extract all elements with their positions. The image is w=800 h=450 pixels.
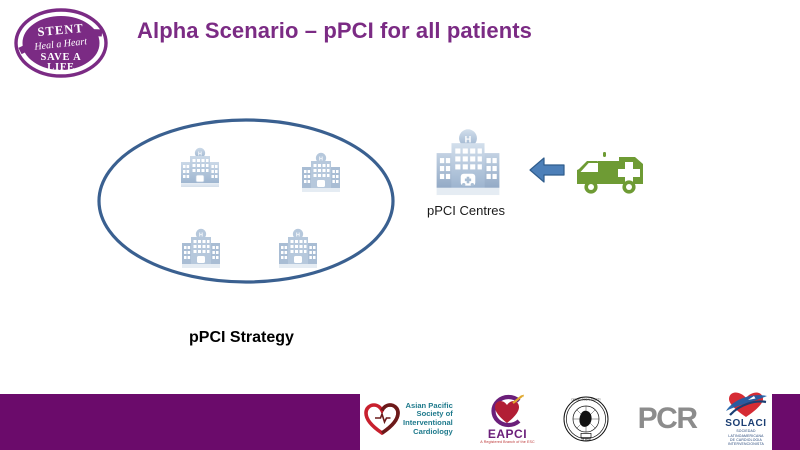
ppci-strategy-ellipse: [96, 117, 396, 285]
ppci-strategy-label: pPCI Strategy: [189, 329, 294, 347]
ambulance-icon: [573, 148, 647, 200]
hospital-building-icon: H: [178, 228, 224, 270]
slide-canvas: STENT Heal a Heart SAVE A LIFE Alpha Sce…: [0, 0, 800, 450]
cardiological-society-seal-logo: CARDIOLOGICAL SOCIETY OF INDIA: [562, 395, 610, 443]
svg-text:OF INDIA: OF INDIA: [581, 438, 591, 441]
solaci-sub-4: INTERVENCIONISTA: [728, 442, 764, 446]
footer-logo-panel: Asian Pacific Society of Interventional …: [360, 388, 772, 450]
eapci-sublabel: A Registered Branch of the ESC: [480, 440, 534, 445]
ppci-centre-hospital-icon: H: [430, 128, 506, 198]
apsic-line-4: Cardiology: [403, 428, 453, 437]
solaci-logo: SOLACI SOCIEDAD LATINOAMERICANA DE CARDI…: [724, 391, 768, 447]
svg-text:LIFE: LIFE: [47, 62, 75, 73]
stent-heal-a-heart-save-a-life-logo: STENT Heal a Heart SAVE A LIFE: [12, 6, 110, 80]
hospital-building-icon: H: [177, 147, 223, 189]
solaci-label: SOLACI: [725, 419, 766, 429]
page-title: Alpha Scenario – pPCI for all patients: [137, 18, 532, 44]
hospital-building-icon: H: [275, 228, 321, 270]
svg-text:H: H: [465, 134, 472, 144]
ppci-centres-label: pPCI Centres: [427, 203, 505, 218]
asian-pacific-society-logo: Asian Pacific Society of Interventional …: [364, 402, 453, 436]
pcr-label: PCR: [638, 402, 697, 436]
left-arrow-icon: [529, 155, 565, 185]
svg-text:CARDIOLOGICAL SOCIETY: CARDIOLOGICAL SOCIETY: [571, 399, 601, 402]
pcr-logo: PCR: [638, 402, 697, 436]
eapci-label: EAPCI: [488, 428, 527, 440]
hospital-building-icon: H: [298, 152, 344, 194]
eapci-logo: EAPCI A Registered Branch of the ESC: [480, 394, 534, 445]
